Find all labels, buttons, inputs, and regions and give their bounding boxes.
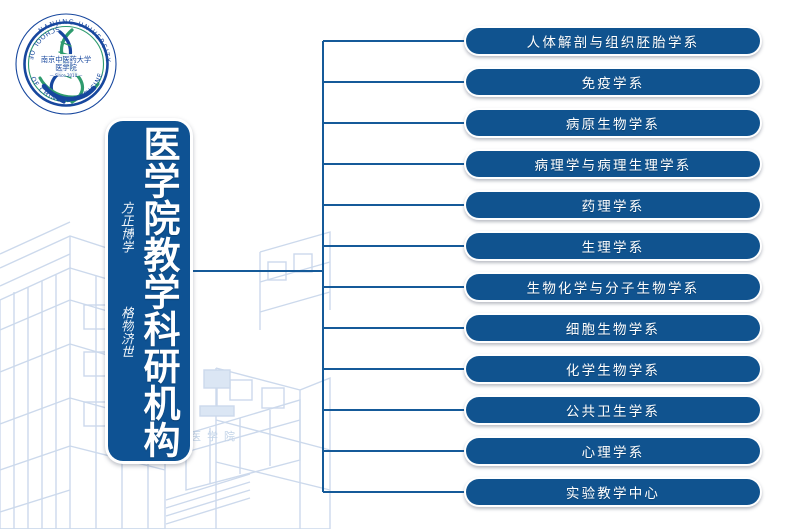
dept-node-label: 人体解剖与组织胚胎学系 bbox=[466, 28, 760, 54]
dept-node-label: 生物化学与分子生物学系 bbox=[466, 274, 760, 300]
dept-node-label: 化学生物学系 bbox=[466, 356, 760, 382]
dept-node-1[interactable]: 人体解剖与组织胚胎学系 bbox=[464, 26, 762, 56]
svg-text:医学院: 医学院 bbox=[190, 429, 241, 443]
root-node-label: 医学院教学科研机构 bbox=[132, 121, 184, 461]
dept-node-label: 细胞生物学系 bbox=[466, 315, 760, 341]
dept-node-11[interactable]: 心理学系 bbox=[464, 436, 762, 466]
dept-node-label: 免疫学系 bbox=[466, 69, 760, 95]
dept-node-10[interactable]: 公共卫生学系 bbox=[464, 395, 762, 425]
dept-node-9[interactable]: 化学生物学系 bbox=[464, 354, 762, 384]
dept-node-label: 药理学系 bbox=[466, 192, 760, 218]
org-chart-canvas: 医学院 南京中医药大学 医学院 — Since 2010 — NANJING U… bbox=[0, 0, 798, 529]
dept-node-label: 生理学系 bbox=[466, 233, 760, 259]
dept-node-12[interactable]: 实验教学中心 bbox=[464, 477, 762, 507]
dept-node-6[interactable]: 生理学系 bbox=[464, 231, 762, 261]
dept-node-2[interactable]: 免疫学系 bbox=[464, 67, 762, 97]
dept-node-4[interactable]: 病理学与病理生理学系 bbox=[464, 149, 762, 179]
dept-node-label: 心理学系 bbox=[466, 438, 760, 464]
dept-node-7[interactable]: 生物化学与分子生物学系 bbox=[464, 272, 762, 302]
root-node[interactable]: 方正博学 格物济世 医学院教学科研机构 bbox=[105, 118, 193, 464]
dept-node-label: 病理学与病理生理学系 bbox=[466, 151, 760, 177]
university-logo: 南京中医药大学 医学院 — Since 2010 — NANJING UNIVE… bbox=[14, 12, 118, 116]
root-node-body: 方正博学 格物济世 医学院教学科研机构 bbox=[108, 121, 190, 461]
logo-inner-line3: — Since 2010 — bbox=[50, 73, 83, 78]
dept-node-5[interactable]: 药理学系 bbox=[464, 190, 762, 220]
dept-node-label: 病原生物学系 bbox=[466, 110, 760, 136]
dept-node-label: 公共卫生学系 bbox=[466, 397, 760, 423]
dept-node-3[interactable]: 病原生物学系 bbox=[464, 108, 762, 138]
logo-inner-line2: 医学院 bbox=[55, 63, 77, 72]
dept-node-label: 实验教学中心 bbox=[466, 479, 760, 505]
dept-node-8[interactable]: 细胞生物学系 bbox=[464, 313, 762, 343]
